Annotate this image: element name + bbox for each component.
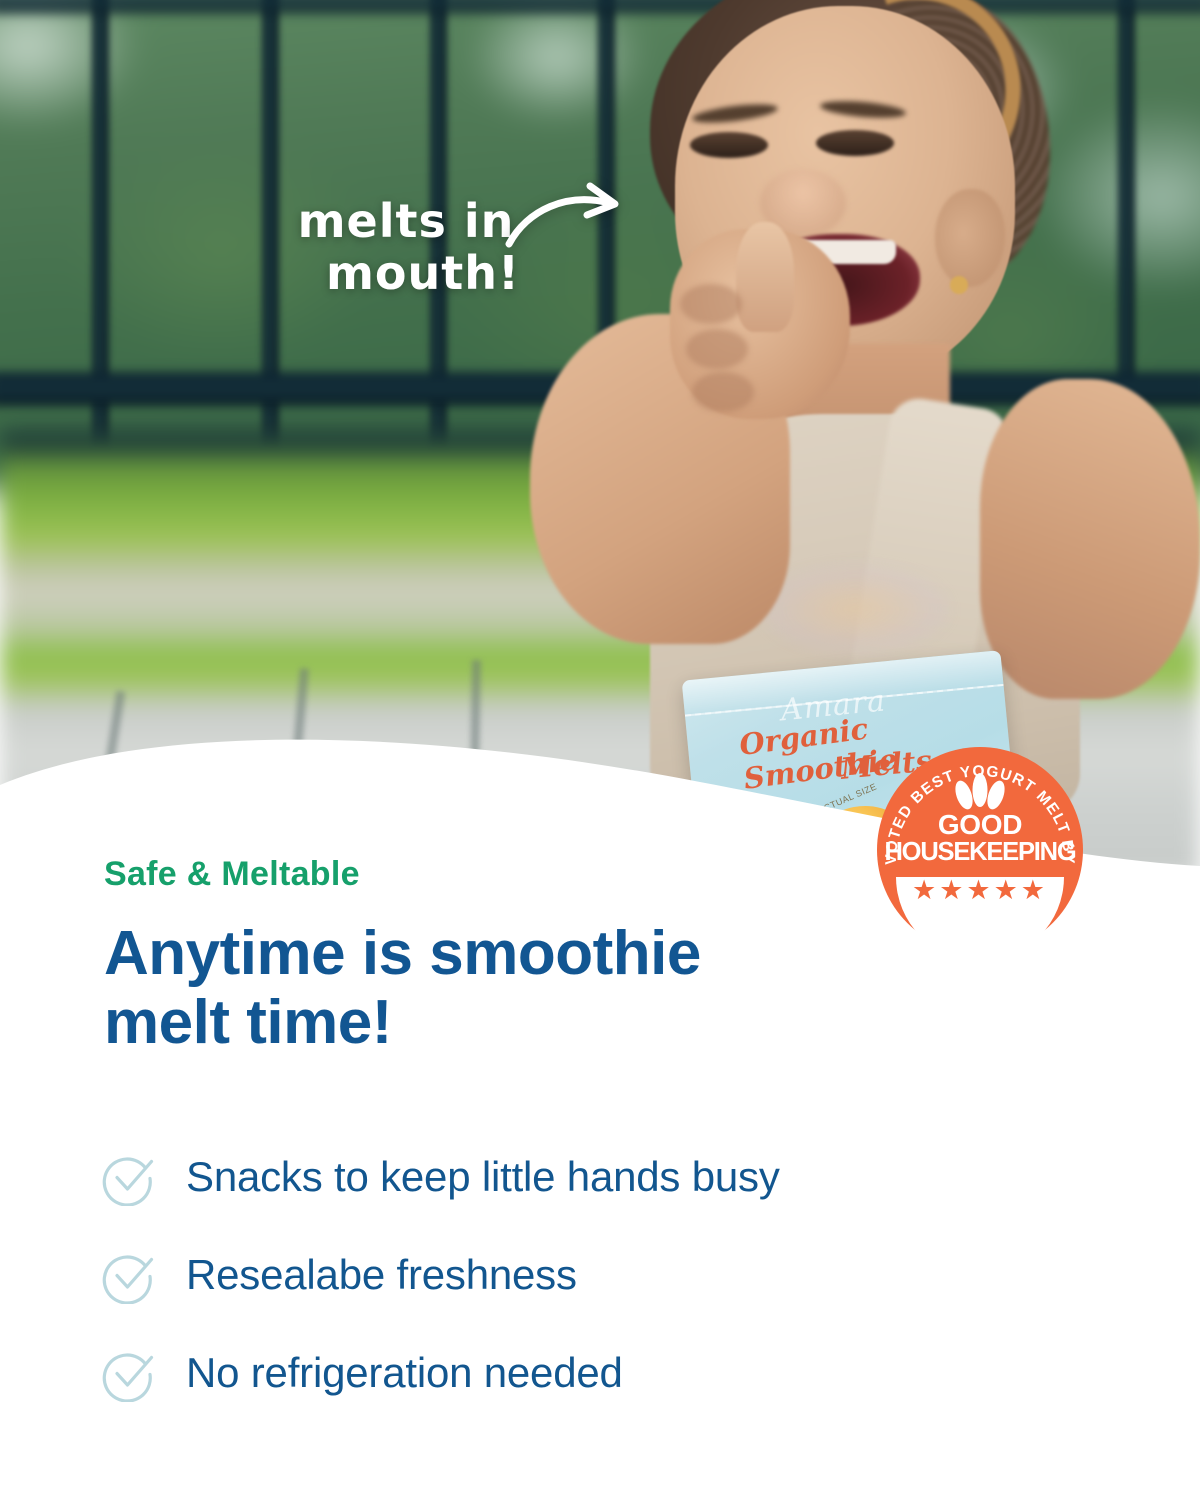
list-item-label: Resealabe freshness — [186, 1251, 577, 1299]
product-feature-poster: Amara Organic Smoothie Melts ACTUAL SIZE… — [0, 0, 1200, 1500]
tank-top-highlight — [760, 564, 950, 654]
circle-check-icon — [100, 1148, 158, 1206]
list-item-label: Snacks to keep little hands busy — [186, 1153, 780, 1201]
circle-check-icon — [100, 1344, 158, 1402]
badge-name-line-1: GOOD — [938, 809, 1022, 840]
ear — [935, 189, 1005, 287]
eyebrow-label: Safe & Meltable — [104, 855, 1200, 894]
callout-line-1: melts in — [298, 194, 515, 248]
list-item-label: No refrigeration needed — [186, 1349, 623, 1397]
list-item: Snacks to keep little hands busy — [100, 1128, 1200, 1226]
right-arm — [980, 379, 1200, 699]
curved-arrow-icon — [505, 182, 635, 267]
headline-line-2: melt time! — [104, 988, 392, 1057]
finger-in-mouth — [736, 222, 794, 332]
feature-list: Snacks to keep little hands busy Reseala… — [100, 1128, 1200, 1422]
content-panel: Safe & Meltable Anytime is smoothie melt… — [0, 855, 1200, 1422]
circle-check-icon — [100, 1246, 158, 1304]
earring — [950, 276, 968, 294]
list-item: Resealabe freshness — [100, 1226, 1200, 1324]
page-title: Anytime is smoothie melt time! — [104, 920, 924, 1058]
headline-line-1: Anytime is smoothie — [104, 919, 701, 988]
list-item: No refrigeration needed — [100, 1324, 1200, 1422]
